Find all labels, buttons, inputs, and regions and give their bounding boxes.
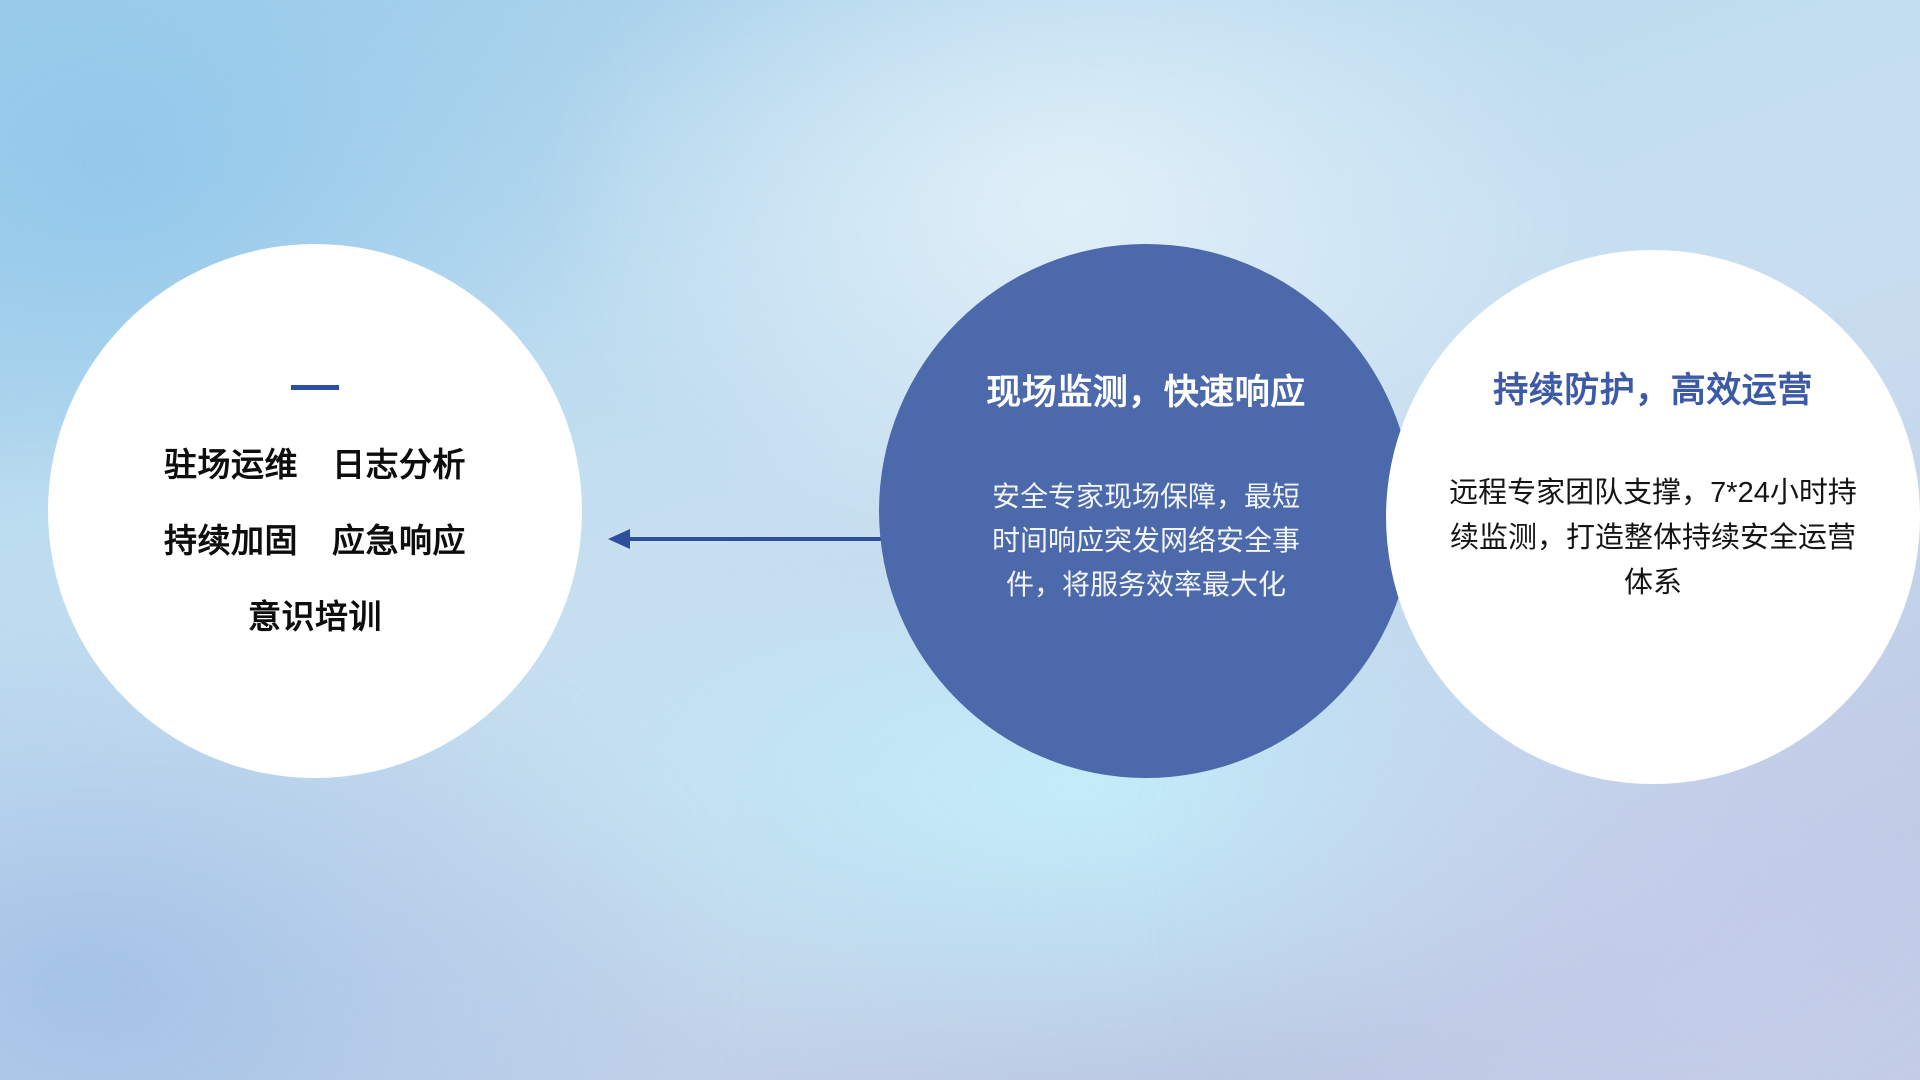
- capability-row: 持续加固 应急响应: [164, 514, 466, 562]
- onsite-monitoring-body: 安全专家现场保障，最短时间响应突发网络安全事件，将服务效率最大化: [981, 475, 1311, 608]
- capability-row: 驻场运维 日志分析: [164, 438, 466, 486]
- capability-item: 持续加固: [164, 514, 298, 562]
- flow-arrow-left: [604, 522, 894, 556]
- capabilities-circle[interactable]: 驻场运维 日志分析 持续加固 应急响应 意识培训: [48, 244, 582, 778]
- capability-item: 意识培训: [248, 590, 382, 638]
- arrow-left-icon: [604, 522, 894, 556]
- capability-item: 日志分析: [332, 438, 466, 486]
- onsite-monitoring-circle[interactable]: 现场监测，快速响应 安全专家现场保障，最短时间响应突发网络安全事件，将服务效率最…: [879, 244, 1413, 778]
- continuous-operations-title: 持续防护，高效运营: [1493, 362, 1813, 413]
- capability-row: 意识培训: [248, 590, 382, 638]
- divider-dash: [291, 385, 339, 390]
- continuous-operations-body: 远程专家团队支撑，7*24小时持续监测，打造整体持续安全运营体系: [1447, 471, 1859, 606]
- capability-list: 驻场运维 日志分析 持续加固 应急响应 意识培训: [164, 438, 466, 638]
- onsite-monitoring-title: 现场监测，快速响应: [986, 364, 1306, 415]
- capability-item: 驻场运维: [164, 438, 298, 486]
- slide-canvas: 驻场运维 日志分析 持续加固 应急响应 意识培训 现场监测，快速响应 安全专家现…: [0, 0, 1920, 1080]
- continuous-operations-circle[interactable]: 持续防护，高效运营 远程专家团队支撑，7*24小时持续监测，打造整体持续安全运营…: [1386, 250, 1920, 784]
- capability-item: 应急响应: [332, 514, 466, 562]
